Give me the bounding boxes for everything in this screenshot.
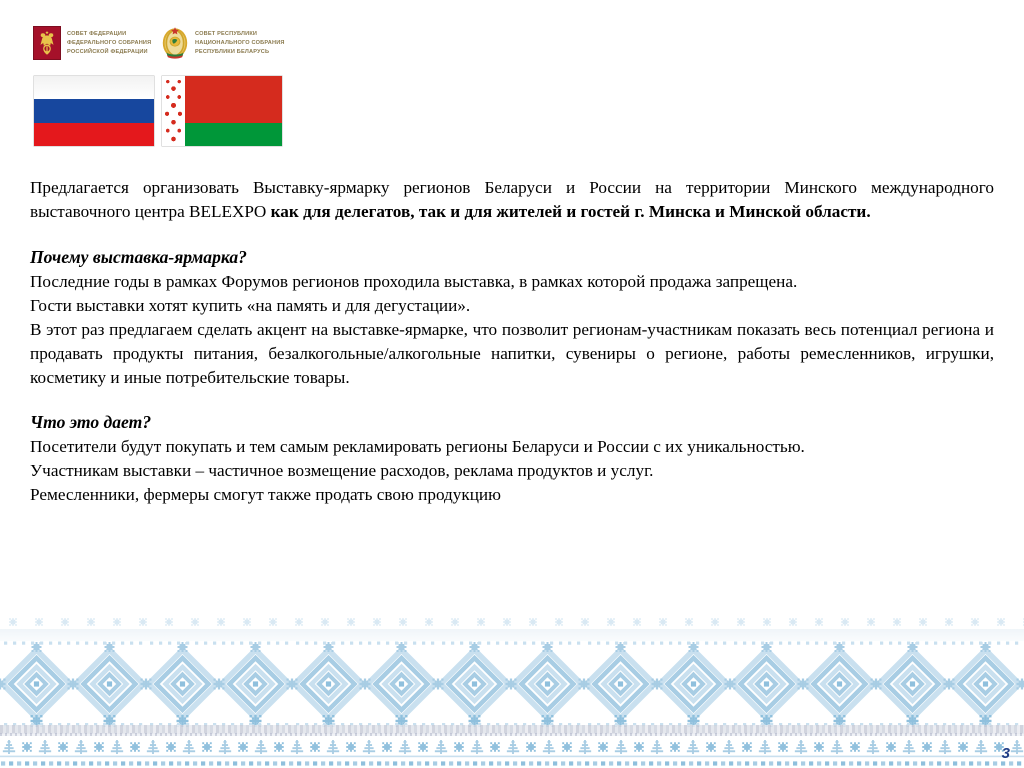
belarus-flag-ornament-stripe (162, 76, 185, 146)
header-logos: СОВЕТ ФЕДЕРАЦИИ ФЕДЕРАЛЬНОГО СОБРАНИЯ РО… (33, 26, 453, 146)
russia-flag-white-band (34, 76, 154, 99)
belarus-flag-ornament-pattern (162, 76, 185, 146)
intro-paragraph: Предлагается организовать Выставку-ярмар… (30, 176, 994, 224)
logo-russia-text: СОВЕТ ФЕДЕРАЦИИ ФЕДЕРАЛЬНОГО СОБРАНИЯ РО… (67, 26, 151, 57)
logo-russia-line-2: ФЕДЕРАЛЬНОГО СОБРАНИЯ (67, 39, 151, 48)
why-paragraph-1: Последние годы в рамках Форумов регионов… (30, 270, 994, 294)
logo-belarus-line-3: РЕСПУБЛИКИ БЕЛАРУСЬ (195, 48, 285, 57)
ornament-border (0, 613, 1024, 768)
russia-flag-red-band (34, 123, 154, 146)
section-heading-why: Почему выставка-ярмарка? (30, 245, 994, 270)
logo-belarus-text: СОВЕТ РЕСПУБЛИКИ НАЦИОНАЛЬНОГО СОБРАНИЯ … (195, 26, 285, 57)
logo-belarus-line-2: НАЦИОНАЛЬНОГО СОБРАНИЯ (195, 39, 285, 48)
ornament-dot-chain (0, 759, 1024, 768)
belarusian-coat-of-arms-icon (161, 26, 189, 60)
flag-of-belarus (162, 76, 282, 146)
section-heading-what: Что это дает? (30, 410, 994, 435)
flag-of-russia (34, 76, 154, 146)
logo-russia-line-3: РОССИЙСКОЙ ФЕДЕРАЦИИ (67, 48, 151, 57)
logo-russia: СОВЕТ ФЕДЕРАЦИИ ФЕДЕРАЛЬНОГО СОБРАНИЯ РО… (33, 26, 151, 60)
ornament-fir-row (0, 736, 1024, 758)
ornament-diamond-band (0, 641, 1024, 727)
slide-content: Предлагается организовать Выставку-ярмар… (30, 176, 994, 507)
spacer (30, 390, 994, 410)
russia-flag-blue-band (34, 99, 154, 122)
intro-bold-text: как для делегатов, так и для жителей и г… (271, 202, 871, 221)
what-paragraph-3: Ремесленники, фермеры смогут также прода… (30, 483, 994, 507)
what-paragraph-2: Участникам выставки – частичное возмещен… (30, 459, 994, 483)
logo-belarus: СОВЕТ РЕСПУБЛИКИ НАЦИОНАЛЬНОГО СОБРАНИЯ … (161, 26, 285, 60)
logo-russia-line-1: СОВЕТ ФЕДЕРАЦИИ (67, 30, 151, 39)
page-number: 3 (1002, 745, 1010, 762)
why-paragraph-2: Гости выставки хотят купить «на память и… (30, 294, 994, 318)
spacer (30, 224, 994, 245)
russian-coat-of-arms-icon (33, 26, 61, 60)
what-paragraph-1: Посетители будут покупать и тем самым ре… (30, 435, 994, 459)
logo-belarus-line-1: СОВЕТ РЕСПУБЛИКИ (195, 30, 285, 39)
why-paragraph-3: В этот раз предлагаем сделать акцент на … (30, 318, 994, 390)
